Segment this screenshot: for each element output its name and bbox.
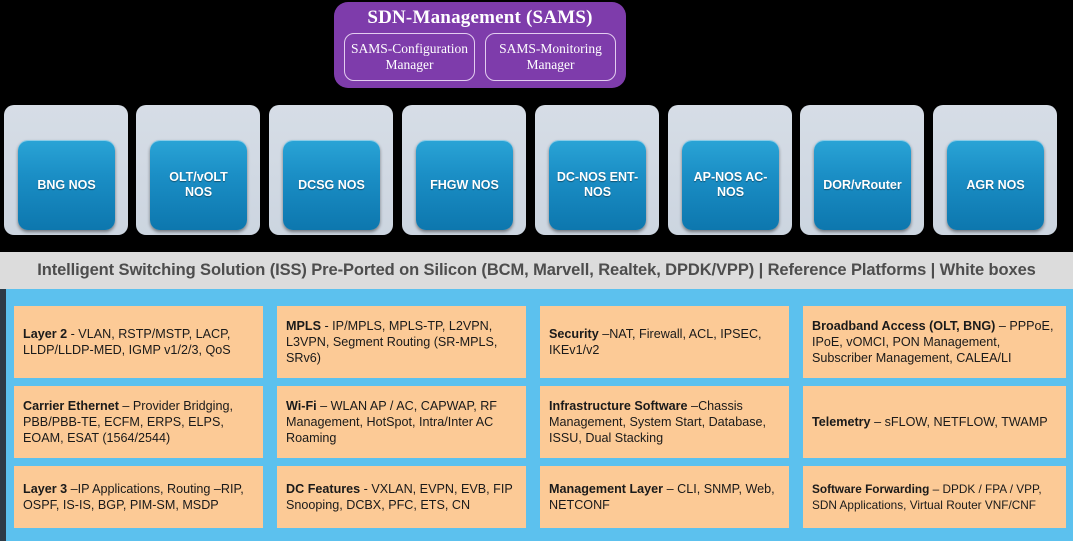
nos-tile-ap-ac: AP-NOS AC-NOS	[668, 105, 792, 235]
feature-grid: Layer 2 - VLAN, RSTP/MSTP, LACP, LLDP/LL…	[14, 306, 1060, 528]
feature-title-management-layer: Management Layer	[549, 482, 663, 496]
feature-title-wifi: Wi-Fi	[286, 399, 317, 413]
diagram-canvas: SDN-Management (SAMS) SAMS-Configuration…	[0, 0, 1073, 541]
sams-monitoring-manager-box: SAMS-Monitoring Manager	[485, 33, 616, 81]
nos-tile-dc-ent: DC-NOS ENT-NOS	[535, 105, 659, 235]
feature-card-wifi: Wi-Fi – WLAN AP / AC, CAPWAP, RF Managem…	[277, 386, 526, 458]
left-edge-strip	[0, 289, 6, 541]
feature-card-telemetry: Telemetry – sFLOW, NETFLOW, TWAMP	[803, 386, 1066, 458]
nos-label-olt-volt: OLT/vOLT NOS	[150, 140, 247, 230]
feature-title-carrier-ethernet: Carrier Ethernet	[23, 399, 119, 413]
feature-title-infrastructure-software: Infrastructure Software	[549, 399, 688, 413]
feature-title-mpls: MPLS	[286, 319, 321, 333]
feature-title-layer3: Layer 3	[23, 482, 67, 496]
feature-card-layer3: Layer 3 –IP Applications, Routing –RIP, …	[14, 466, 263, 528]
nos-label-dc-ent: DC-NOS ENT-NOS	[549, 140, 646, 230]
sdn-management-title: SDN-Management (SAMS)	[334, 2, 626, 29]
feature-card-software-forwarding: Software Forwarding – DPDK / FPA / VPP, …	[803, 466, 1066, 528]
sams-configuration-manager-box: SAMS-Configuration Manager	[344, 33, 475, 81]
sdn-management-block: SDN-Management (SAMS) SAMS-Configuration…	[334, 2, 626, 88]
nos-label-bng: BNG NOS	[18, 140, 115, 230]
feature-card-layer2: Layer 2 - VLAN, RSTP/MSTP, LACP, LLDP/LL…	[14, 306, 263, 378]
nos-tile-bng: BNG NOS	[4, 105, 128, 235]
iss-banner-text: Intelligent Switching Solution (ISS) Pre…	[37, 261, 1036, 280]
feature-card-management-layer: Management Layer – CLI, SNMP, Web, NETCO…	[540, 466, 789, 528]
nos-tile-fhgw: FHGW NOS	[402, 105, 526, 235]
sdn-module-row: SAMS-Configuration Manager SAMS-Monitori…	[334, 29, 626, 81]
nos-label-dor-vrouter: DOR/vRouter	[814, 140, 911, 230]
feature-body-telemetry: – sFLOW, NETFLOW, TWAMP	[871, 415, 1048, 429]
nos-label-ap-ac: AP-NOS AC-NOS	[682, 140, 779, 230]
feature-title-software-forwarding: Software Forwarding	[812, 482, 929, 496]
feature-body-wifi: – WLAN AP / AC, CAPWAP, RF Management, H…	[286, 399, 497, 445]
nos-row: BNG NOS OLT/vOLT NOS DCSG NOS FHGW NOS D…	[0, 105, 1073, 235]
nos-tile-agr: AGR NOS	[933, 105, 1057, 235]
feature-title-layer2: Layer 2	[23, 327, 67, 341]
nos-label-agr: AGR NOS	[947, 140, 1044, 230]
feature-card-mpls: MPLS - IP/MPLS, MPLS-TP, L2VPN, L3VPN, S…	[277, 306, 526, 378]
nos-tile-dcsg: DCSG NOS	[269, 105, 393, 235]
feature-card-broadband-access: Broadband Access (OLT, BNG) – PPPoE, IPo…	[803, 306, 1066, 378]
feature-card-dc-features: DC Features - VXLAN, EVPN, EVB, FIP Snoo…	[277, 466, 526, 528]
nos-label-fhgw: FHGW NOS	[416, 140, 513, 230]
nos-label-dcsg: DCSG NOS	[283, 140, 380, 230]
feature-card-carrier-ethernet: Carrier Ethernet – Provider Bridging, PB…	[14, 386, 263, 458]
feature-card-security: Security –NAT, Firewall, ACL, IPSEC, IKE…	[540, 306, 789, 378]
iss-banner: Intelligent Switching Solution (ISS) Pre…	[0, 252, 1073, 289]
feature-card-infrastructure-software: Infrastructure Software –Chassis Managem…	[540, 386, 789, 458]
feature-area: Layer 2 - VLAN, RSTP/MSTP, LACP, LLDP/LL…	[0, 289, 1073, 541]
feature-title-dc-features: DC Features	[286, 482, 360, 496]
feature-title-security: Security	[549, 327, 599, 341]
feature-title-telemetry: Telemetry	[812, 415, 871, 429]
nos-tile-olt-volt: OLT/vOLT NOS	[136, 105, 260, 235]
nos-tile-dor-vrouter: DOR/vRouter	[800, 105, 924, 235]
feature-title-broadband-access: Broadband Access (OLT, BNG)	[812, 319, 995, 333]
